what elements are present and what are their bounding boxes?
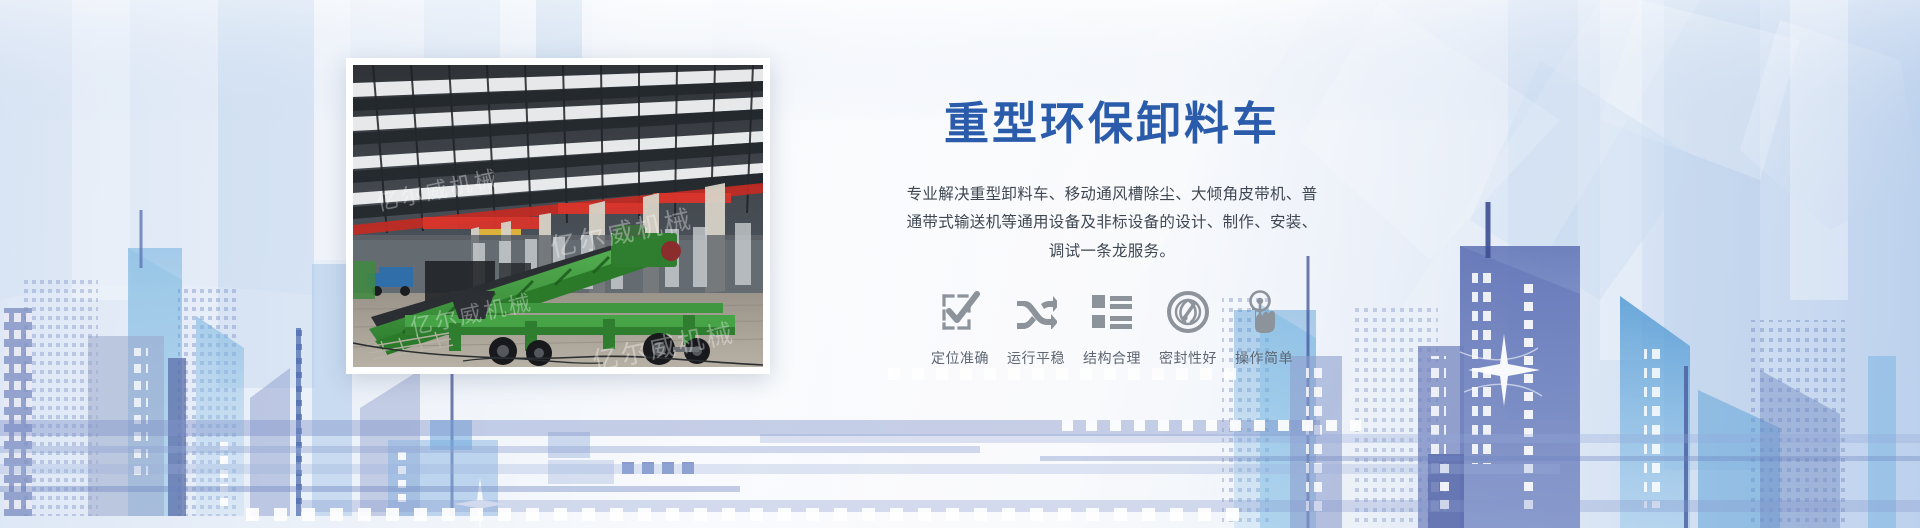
feature-item-positioning[interactable]: 定位准确	[922, 288, 998, 368]
feature-item-sealing[interactable]: 密封性好	[1150, 288, 1226, 368]
feature-label: 密封性好	[1159, 348, 1217, 368]
description-line: 专业解决重型卸料车、移动通风槽除尘、大倾角皮带机、普	[820, 180, 1404, 209]
seal-gauge-icon	[1164, 288, 1212, 336]
product-description: 专业解决重型卸料车、移动通风槽除尘、大倾角皮带机、普 通带式输送机等通用设备及非…	[812, 180, 1412, 266]
page-title: 重型环保卸料车	[812, 98, 1412, 150]
feature-label: 运行平稳	[1007, 348, 1065, 368]
description-line: 调试一条龙服务。	[820, 237, 1404, 266]
list-blocks-icon	[1088, 288, 1136, 336]
shuffle-arrows-icon	[1012, 288, 1060, 336]
bottom-streak-lines	[0, 368, 1920, 528]
feature-label: 定位准确	[931, 348, 989, 368]
product-hero-banner: 亿尔威机械 亿尔威机械 亿尔威机械 亿尔威机械 重型环保卸料车 专业解决重型卸料…	[0, 0, 1920, 528]
description-line: 通带式输送机等通用设备及非标设备的设计、制作、安装、	[820, 208, 1404, 237]
feature-label: 操作简单	[1235, 348, 1293, 368]
product-photo[interactable]: 亿尔威机械 亿尔威机械 亿尔威机械 亿尔威机械	[353, 65, 763, 367]
feature-item-operation[interactable]: 操作简单	[1226, 288, 1302, 368]
tap-finger-icon	[1240, 288, 1288, 336]
product-photo-frame[interactable]: 亿尔威机械 亿尔威机械 亿尔威机械 亿尔威机械	[346, 58, 770, 374]
feature-label: 结构合理	[1083, 348, 1141, 368]
feature-list: 定位准确 运行平稳	[812, 288, 1412, 368]
feature-item-structure[interactable]: 结构合理	[1074, 288, 1150, 368]
hero-content: 重型环保卸料车 专业解决重型卸料车、移动通风槽除尘、大倾角皮带机、普 通带式输送…	[812, 98, 1412, 368]
checkbox-dashed-icon	[936, 288, 984, 336]
feature-item-stability[interactable]: 运行平稳	[998, 288, 1074, 368]
